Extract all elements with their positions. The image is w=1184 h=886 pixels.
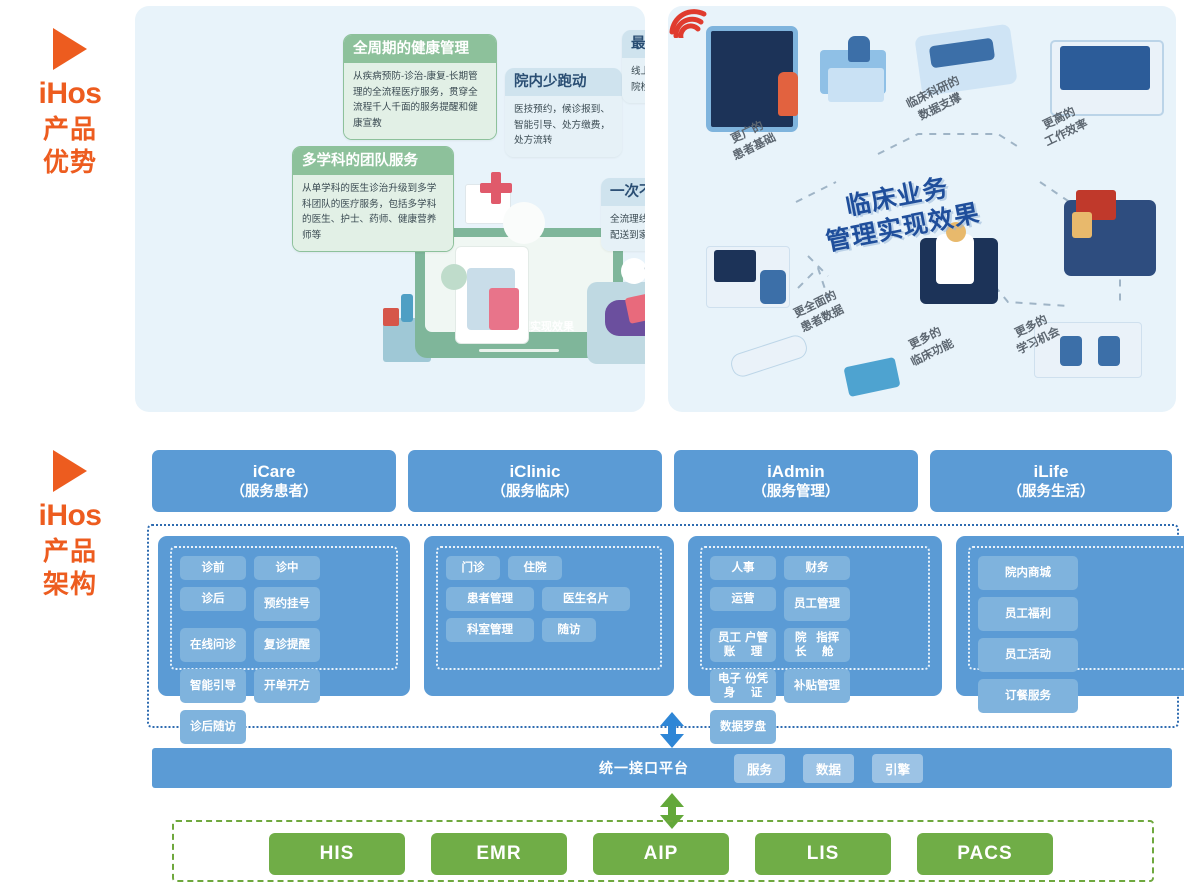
module-chip-line: 院内商城 bbox=[1005, 566, 1051, 580]
module-chip[interactable]: 住院 bbox=[508, 556, 562, 580]
module-chip[interactable]: 员工福利 bbox=[978, 597, 1078, 631]
rail-architecture-line2: 架构 bbox=[0, 568, 140, 601]
module-chip-line: 院长 bbox=[790, 631, 812, 660]
module-chip-line: 诊中 bbox=[276, 561, 299, 575]
module-chip-line: 电子身 bbox=[716, 672, 743, 701]
module-chip[interactable]: 智能引导 bbox=[180, 669, 246, 703]
module-chip-line: 份凭证 bbox=[743, 672, 770, 701]
module-chip-line: 预约 bbox=[264, 597, 287, 611]
platform-label: 统一接口平台 bbox=[599, 758, 689, 778]
module-chip-line: 员工福利 bbox=[1005, 607, 1051, 621]
platform-chip[interactable]: 引擎 bbox=[872, 754, 923, 783]
legacy-systems-row: HISEMRAIPLISPACS bbox=[182, 833, 1140, 875]
module-chip-line: 门诊 bbox=[462, 561, 485, 575]
staff-figure-shape bbox=[848, 36, 870, 62]
module-iclinic[interactable]: 门诊住院患者管理医生名片科室管理随访 bbox=[424, 536, 674, 696]
module-chip-line: 员工活动 bbox=[1005, 648, 1051, 662]
module-chip[interactable]: 财务 bbox=[784, 556, 850, 580]
arch-header-icare[interactable]: iCare （服务患者） bbox=[152, 450, 396, 512]
module-chip-line: 开单 bbox=[264, 679, 287, 693]
medical-cross-icon bbox=[480, 172, 512, 204]
meeting-chair-shape bbox=[1060, 336, 1082, 366]
module-chip[interactable]: 电子身份凭证 bbox=[710, 669, 776, 703]
callout-body: 全流理线上问诊、购药配送到家 bbox=[601, 206, 645, 251]
up-down-arrow-icon-blue bbox=[660, 712, 684, 748]
callout-title: 多学科的团队服务 bbox=[293, 147, 453, 175]
reception-desk-top-shape bbox=[828, 68, 884, 102]
module-chip-line: 随访 bbox=[558, 623, 581, 637]
module-chip[interactable]: 运营 bbox=[710, 587, 776, 611]
callout-title: 全周期的健康管理 bbox=[344, 35, 496, 63]
module-chip[interactable]: 预约挂号 bbox=[254, 587, 320, 621]
office-chair-shape bbox=[760, 270, 786, 304]
module-chip-line: 患者管理 bbox=[467, 592, 513, 606]
module-chip[interactable]: 诊后随访 bbox=[180, 710, 246, 744]
module-chip-line: 诊前 bbox=[202, 561, 225, 575]
callout-title: 最多跑一次 bbox=[622, 30, 645, 58]
arch-header-cn: （服务临床） bbox=[491, 483, 578, 502]
arch-header-cn: （服务生活） bbox=[1007, 483, 1094, 502]
patient-figure-shape bbox=[778, 72, 798, 116]
module-chip-line: 智能 bbox=[190, 679, 213, 693]
platform-chips: 服务数据引擎 bbox=[734, 754, 923, 783]
rail-advantage-brand: iHos bbox=[0, 76, 140, 113]
rail-architecture-line1: 产品 bbox=[0, 535, 140, 568]
arch-header-iadmin[interactable]: iAdmin （服务管理） bbox=[674, 450, 918, 512]
module-chip[interactable]: 诊后 bbox=[180, 587, 246, 611]
module-chip[interactable]: 人事 bbox=[710, 556, 776, 580]
module-chip-line: 在线 bbox=[190, 638, 213, 652]
rail-architecture: iHos 产品 架构 bbox=[0, 450, 140, 601]
module-chip-line: 问诊 bbox=[213, 638, 236, 652]
system-button-aip[interactable]: AIP bbox=[593, 833, 729, 875]
question-mark-icon: ?? bbox=[643, 258, 645, 289]
system-button-lis[interactable]: LIS bbox=[755, 833, 891, 875]
laptop-screen-shape bbox=[1060, 46, 1150, 90]
module-chip[interactable]: 员工管理 bbox=[784, 587, 850, 621]
module-chip[interactable]: 数据罗盘 bbox=[710, 710, 776, 744]
avatar-head-shape bbox=[503, 202, 545, 244]
arch-header-ilife[interactable]: iLife （服务生活） bbox=[930, 450, 1172, 512]
module-chip-line: 订餐服务 bbox=[1005, 689, 1051, 703]
module-icare[interactable]: 诊前诊中诊后预约挂号在线问诊复诊提醒智能引导开单开方诊后随访 bbox=[158, 536, 410, 696]
module-chip-line: 开方 bbox=[287, 679, 310, 693]
magnifier-icon bbox=[621, 258, 645, 284]
rail-advantage: iHos 产品 优势 bbox=[0, 28, 140, 179]
callout-card-at-most-one-trip: 最多跑一次 线上提前预约，按时到院检查检验 bbox=[622, 30, 645, 103]
module-chip-line: 户管理 bbox=[743, 631, 770, 660]
module-chip[interactable]: 订餐服务 bbox=[978, 679, 1078, 713]
module-chip[interactable]: 补贴管理 bbox=[784, 669, 850, 703]
module-chip[interactable]: 复诊提醒 bbox=[254, 628, 320, 662]
cup-shape bbox=[383, 308, 399, 326]
module-chip-line: 员工账 bbox=[716, 631, 743, 660]
unified-interface-platform-bar[interactable]: 统一接口平台 服务数据引擎 bbox=[152, 748, 1172, 788]
module-chip[interactable]: 开单开方 bbox=[254, 669, 320, 703]
module-chip[interactable]: 患者管理 bbox=[446, 587, 534, 611]
bottle-shape bbox=[401, 294, 413, 322]
module-iclinic-chips: 门诊住院患者管理医生名片科室管理随访 bbox=[436, 546, 662, 670]
module-chip-line: 补贴 bbox=[794, 679, 817, 693]
callout-body: 医技预约，候诊报到、智能引导、处方缴费，处方流转 bbox=[505, 96, 622, 157]
arch-header-cn: （服务患者） bbox=[231, 483, 318, 502]
module-chip-line: 诊后 bbox=[202, 592, 225, 606]
callout-title: 院内少跑动 bbox=[505, 68, 622, 96]
architecture-header-row: iCare （服务患者） iClinic （服务临床） iAdmin （服务管理… bbox=[152, 450, 1172, 512]
module-chip[interactable]: 诊中 bbox=[254, 556, 320, 580]
module-chip-line: 指挥舱 bbox=[812, 631, 844, 660]
rail-advantage-line2: 优势 bbox=[0, 146, 140, 179]
arch-header-iclinic[interactable]: iClinic （服务临床） bbox=[408, 450, 662, 512]
module-chip[interactable]: 院长指挥舱 bbox=[784, 628, 850, 662]
module-chip-line: 随访 bbox=[213, 720, 236, 734]
module-ilife[interactable]: 院内商城员工福利员工活动订餐服务 bbox=[956, 536, 1184, 696]
module-chip[interactable]: 员工活动 bbox=[978, 638, 1078, 672]
module-chip-line: 挂号 bbox=[287, 597, 310, 611]
pill-bottle-shape bbox=[1072, 212, 1092, 238]
callout-card-lifecycle: 全周期的健康管理 从疾病预防-诊治-康复-长期管理的全流程医疗服务，贯穿全流程千… bbox=[343, 34, 497, 140]
module-iadmin[interactable]: 人事财务运营员工管理员工账户管理院长指挥舱电子身份凭证补贴管理数据罗盘 bbox=[688, 536, 942, 696]
arch-header-cn: （服务管理） bbox=[752, 483, 839, 502]
arch-header-en: iCare bbox=[253, 461, 296, 483]
module-chip[interactable]: 诊前 bbox=[180, 556, 246, 580]
module-chip-line: 数据 bbox=[720, 720, 743, 734]
meeting-chair-shape bbox=[1098, 336, 1120, 366]
arch-header-en: iLife bbox=[1033, 461, 1068, 483]
architecture-modules-container: 诊前诊中诊后预约挂号在线问诊复诊提醒智能引导开单开方诊后随访 门诊住院患者管理医… bbox=[147, 524, 1179, 728]
circle-badge-shape bbox=[441, 264, 467, 290]
system-button-pacs[interactable]: PACS bbox=[917, 833, 1053, 875]
slide-root: iHos 产品 优势 iHos 产品 架构 患者关系管理实现效果 bbox=[0, 0, 1184, 886]
module-chip-line: 科室管理 bbox=[467, 623, 513, 637]
module-chip-line: 引导 bbox=[213, 679, 236, 693]
module-chip[interactable]: 在线问诊 bbox=[180, 628, 246, 662]
platform-chip[interactable]: 数据 bbox=[803, 754, 854, 783]
rail-advantage-line1: 产品 bbox=[0, 113, 140, 146]
module-chip[interactable]: 科室管理 bbox=[446, 618, 534, 642]
system-button-emr[interactable]: EMR bbox=[431, 833, 567, 875]
module-chip[interactable]: 医生名片 bbox=[542, 587, 630, 611]
module-iadmin-chips: 人事财务运营员工管理员工账户管理院长指挥舱电子身份凭证补贴管理数据罗盘 bbox=[700, 546, 930, 670]
platform-chip[interactable]: 服务 bbox=[734, 754, 785, 783]
module-chip-line: 提醒 bbox=[287, 638, 310, 652]
module-chip[interactable]: 院内商城 bbox=[978, 556, 1078, 590]
module-chip[interactable]: 员工账户管理 bbox=[710, 628, 776, 662]
arch-header-en: iAdmin bbox=[767, 461, 825, 483]
callout-card-multidisciplinary: 多学科的团队服务 从单学科的医生诊治升级到多学科团队的医疗服务，包括多学科的医生… bbox=[292, 146, 454, 252]
module-chip-line: 管理 bbox=[817, 597, 840, 611]
module-chip-line: 医生名片 bbox=[563, 592, 609, 606]
play-triangle-icon bbox=[53, 450, 87, 492]
module-chip-line: 罗盘 bbox=[743, 720, 766, 734]
callout-card-no-trip: 一次不而跑 全流理线上问诊、购药配送到家 bbox=[601, 178, 645, 251]
architecture-modules-row: 诊前诊中诊后预约挂号在线问诊复诊提醒智能引导开单开方诊后随访 门诊住院患者管理医… bbox=[158, 536, 1184, 696]
module-chip-line: 财务 bbox=[806, 561, 829, 575]
module-chip-line: 运营 bbox=[732, 592, 755, 606]
clinical-effect-panel: 临床业务 管理实现效果 更广的 患者基础 临床科研的 数据支撑 更高的 工作效率… bbox=[668, 6, 1176, 412]
play-triangle-icon bbox=[53, 28, 87, 70]
module-chip[interactable]: 门诊 bbox=[446, 556, 500, 580]
arch-header-en: iClinic bbox=[509, 461, 560, 483]
module-chip-line: 复诊 bbox=[264, 638, 287, 652]
module-ilife-chips: 院内商城员工福利员工活动订餐服务 bbox=[968, 546, 1184, 670]
module-chip-line: 管理 bbox=[817, 679, 840, 693]
rail-architecture-brand: iHos bbox=[0, 498, 140, 535]
callout-card-less-running: 院内少跑动 医技预约，候诊报到、智能引导、处方缴费，处方流转 bbox=[505, 68, 622, 157]
clipboard-shape bbox=[489, 288, 519, 330]
module-icare-chips: 诊前诊中诊后预约挂号在线问诊复诊提醒智能引导开单开方诊后随访 bbox=[170, 546, 398, 670]
module-chip[interactable]: 随访 bbox=[542, 618, 596, 642]
module-chip-line: 诊后 bbox=[190, 720, 213, 734]
callout-body: 从疾病预防-诊治-康复-长期管理的全流程医疗服务，贯穿全流程千人千面的服务提醒和… bbox=[344, 63, 496, 139]
advantage-illustration-panel: 患者关系管理实现效果 ?? 全周期的健康管理 从疾病预防-诊治-康复-长期管理的… bbox=[135, 6, 645, 412]
module-chip-line: 员工 bbox=[794, 597, 817, 611]
callout-body: 线上提前预约，按时到院检查检验 bbox=[622, 58, 645, 103]
callout-title: 一次不而跑 bbox=[601, 178, 645, 206]
callout-body: 从单学科的医生诊治升级到多学科团队的医疗服务，包括多学科的医生、护士、药师、健康… bbox=[293, 175, 453, 251]
module-chip-line: 人事 bbox=[732, 561, 755, 575]
module-chip-line: 住院 bbox=[524, 561, 547, 575]
system-button-his[interactable]: HIS bbox=[269, 833, 405, 875]
